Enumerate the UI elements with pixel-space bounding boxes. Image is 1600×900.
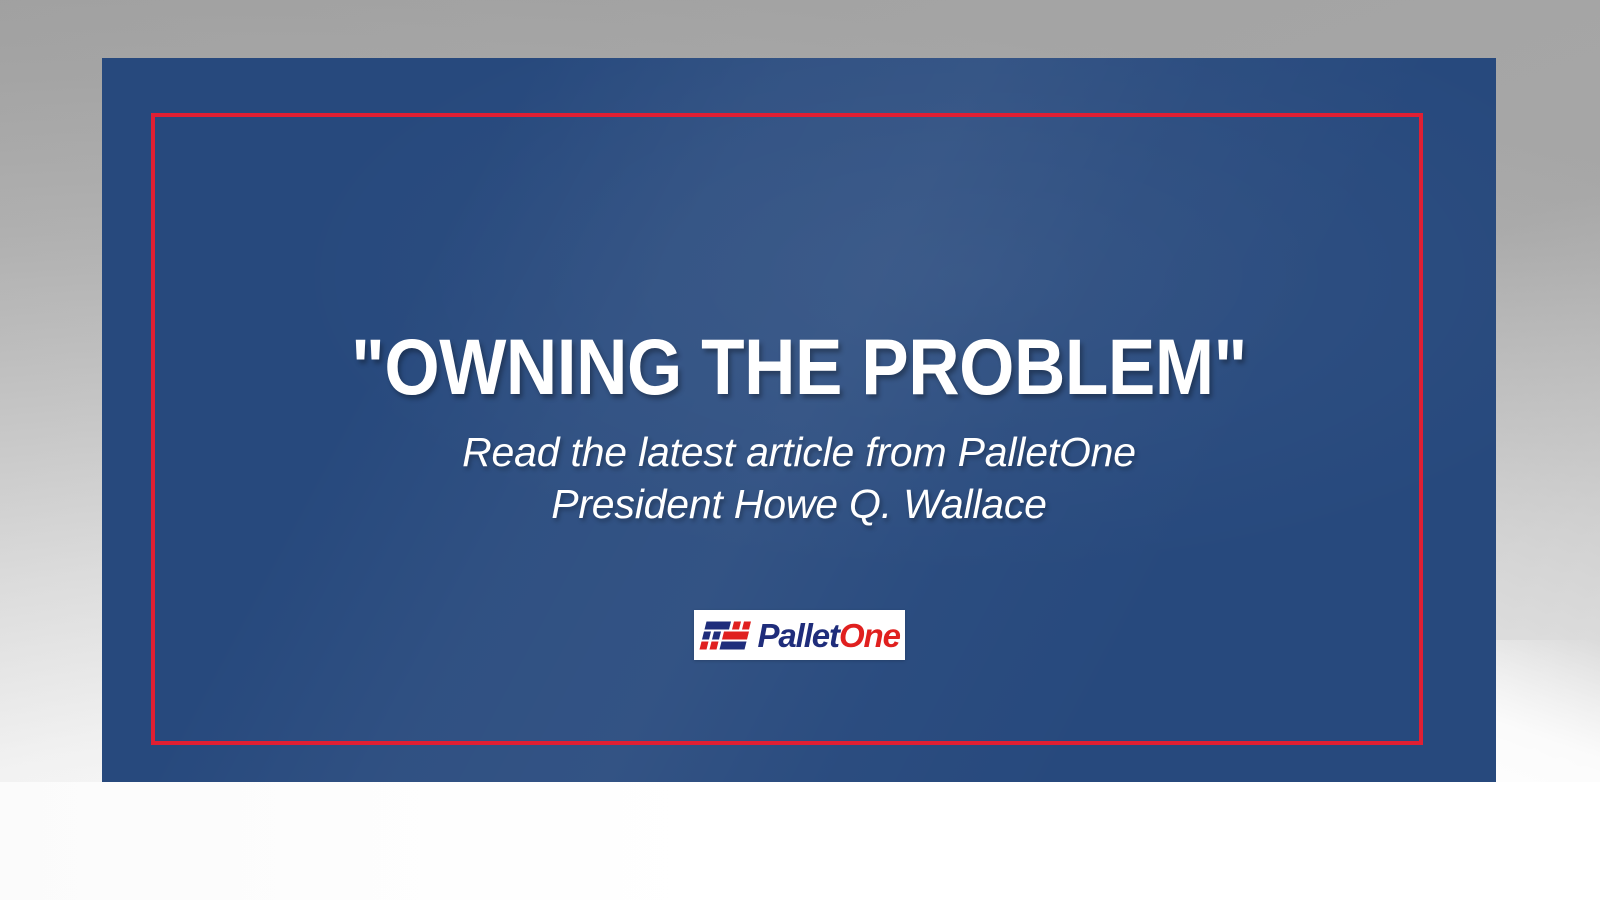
background-right-white-fade — [1496, 640, 1600, 900]
palletone-logo: PalletOne — [694, 610, 905, 660]
wordmark-one: One — [839, 617, 900, 654]
slide-panel: "OWNING THE PROBLEM" Read the latest art… — [102, 58, 1496, 782]
subtitle-line-2: President Howe Q. Wallace — [102, 478, 1496, 530]
slide-canvas: "OWNING THE PROBLEM" Read the latest art… — [0, 0, 1600, 900]
slide-subtitle: Read the latest article from PalletOne P… — [102, 426, 1496, 530]
slide-title: "OWNING THE PROBLEM" — [172, 324, 1427, 410]
palletone-pallet-stack-icon — [699, 615, 757, 655]
palletone-wordmark: PalletOne — [758, 619, 900, 652]
subtitle-line-1: Read the latest article from PalletOne — [102, 426, 1496, 478]
wordmark-pallet: Pallet — [758, 617, 839, 654]
slide-content: "OWNING THE PROBLEM" Read the latest art… — [102, 58, 1496, 782]
background-bottom-white-band — [0, 782, 1600, 900]
